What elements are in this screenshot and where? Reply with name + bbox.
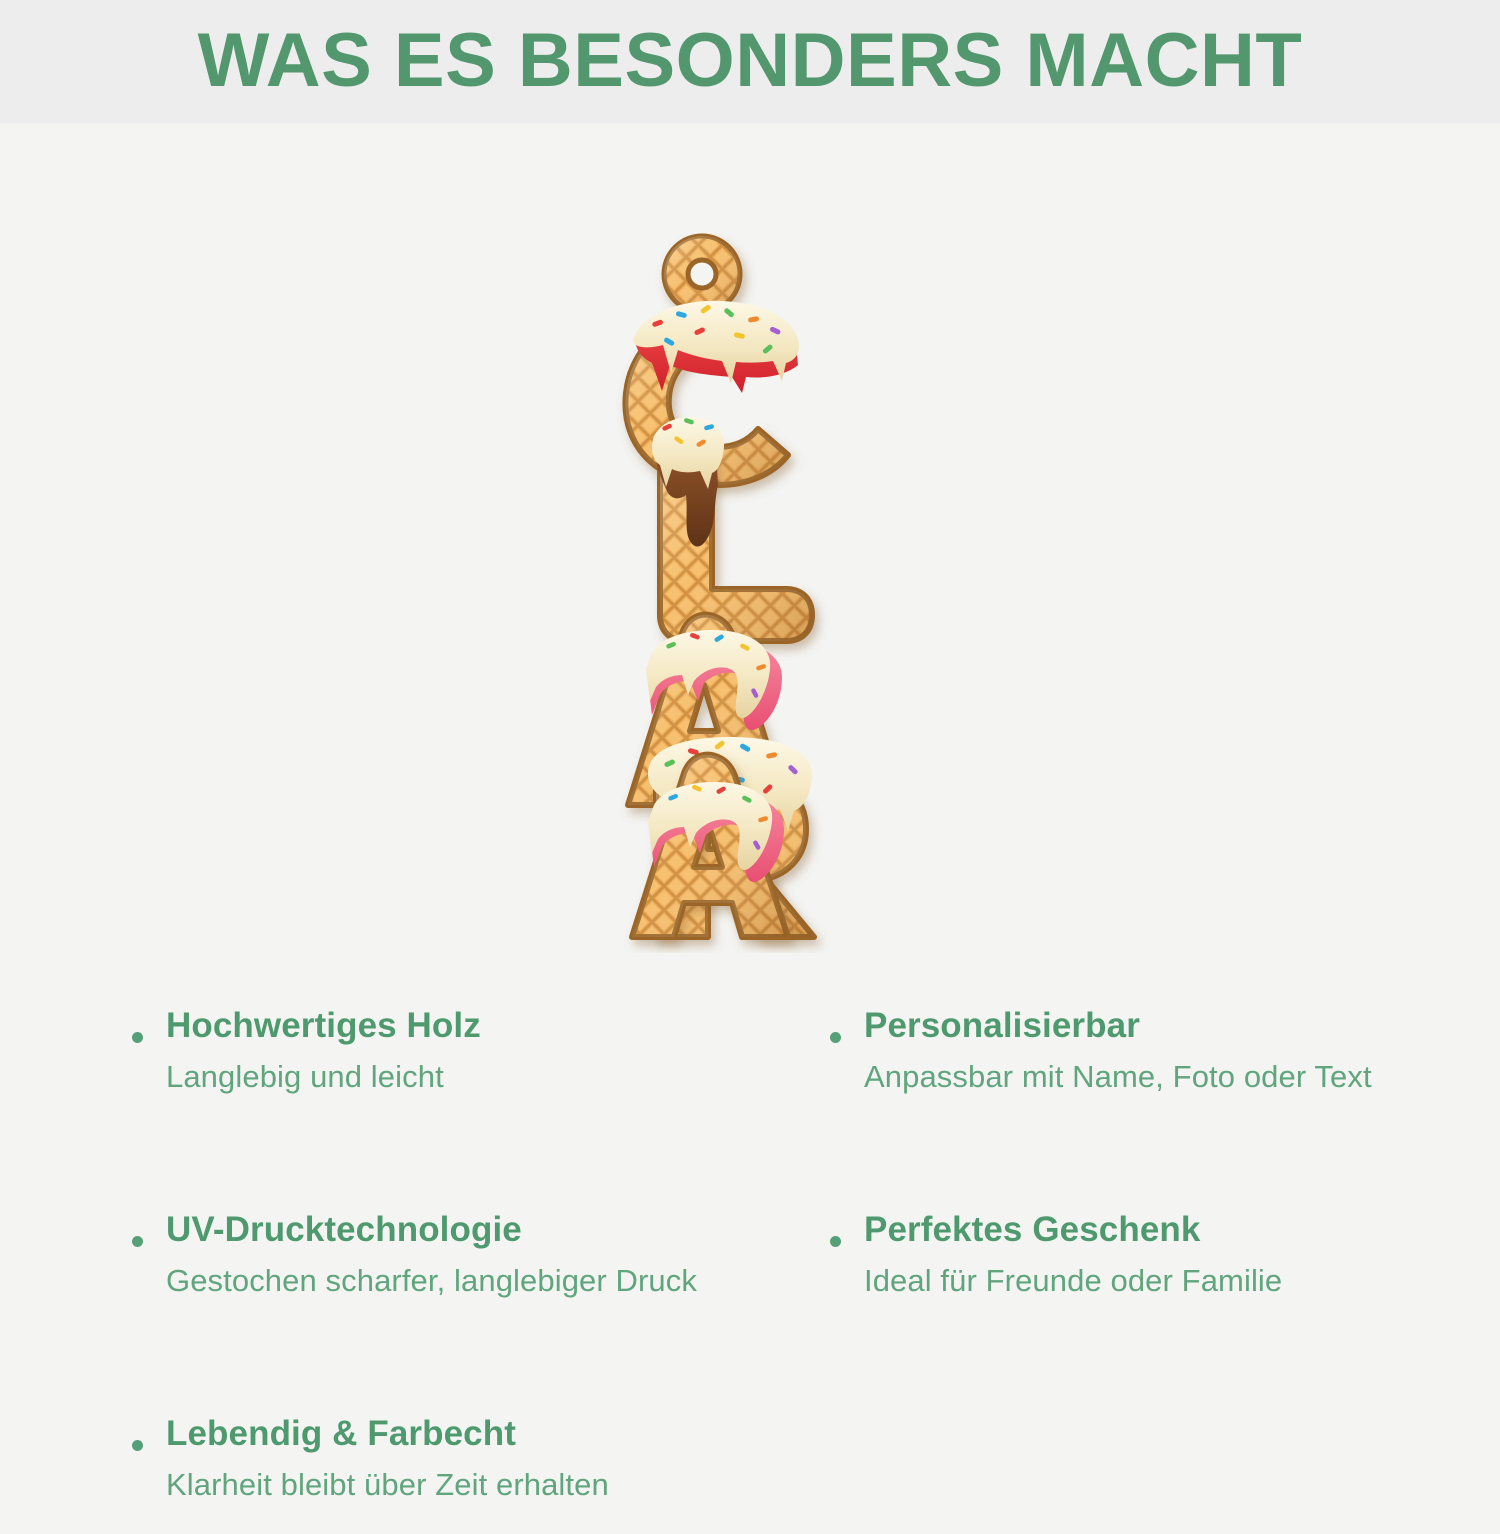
product-image-keychain [590,233,910,953]
bullet-dot-icon [132,1440,143,1451]
feature-title: Perfektes Geschenk [864,1204,1500,1256]
bullet-dot-icon [830,1032,841,1043]
hero-section [0,123,1500,993]
feature-subtitle: Ideal für Freunde oder Familie [864,1256,1500,1306]
feature-item-uv-drucktechnologie: UV-Drucktechnologie Gestochen scharfer, … [120,1204,820,1306]
feature-subtitle: Gestochen scharfer, langlebiger Druck [166,1256,820,1306]
column-spacer [120,1330,820,1408]
feature-item-perfektes-geschenk: Perfektes Geschenk Ideal für Freunde ode… [818,1204,1500,1306]
feature-title: Personalisierbar [864,1000,1500,1052]
feature-subtitle: Klarheit bleibt über Zeit erhalten [166,1460,820,1510]
feature-title: Lebendig & Farbecht [166,1408,820,1460]
bullet-dot-icon [132,1032,143,1043]
page-title: WAS ES BESONDERS MACHT [0,18,1500,104]
feature-title: UV-Drucktechnologie [166,1204,820,1256]
feature-subtitle: Anpassbar mit Name, Foto oder Text [864,1052,1500,1102]
promo-page: WAS ES BESONDERS MACHT [0,0,1500,1500]
bullet-dot-icon [830,1236,841,1247]
hanging-loop [664,236,740,312]
column-spacer [120,1126,820,1204]
feature-item-hochwertiges-holz: Hochwertiges Holz Langlebig und leicht [120,1000,820,1102]
bullet-dot-icon [132,1236,143,1247]
feature-title: Hochwertiges Holz [166,1000,820,1052]
features-section: Hochwertiges Holz Langlebig und leicht U… [0,1000,1500,1460]
features-right-column: Personalisierbar Anpassbar mit Name, Fot… [818,1000,1500,1330]
feature-subtitle: Langlebig und leicht [166,1052,820,1102]
feature-item-lebendig-farbecht: Lebendig & Farbecht Klarheit bleibt über… [120,1408,820,1510]
features-left-column: Hochwertiges Holz Langlebig und leicht U… [120,1000,820,1534]
column-spacer [818,1126,1500,1204]
feature-item-personalisierbar: Personalisierbar Anpassbar mit Name, Fot… [818,1000,1500,1102]
waffle-letter-keychain-svg [590,233,910,953]
